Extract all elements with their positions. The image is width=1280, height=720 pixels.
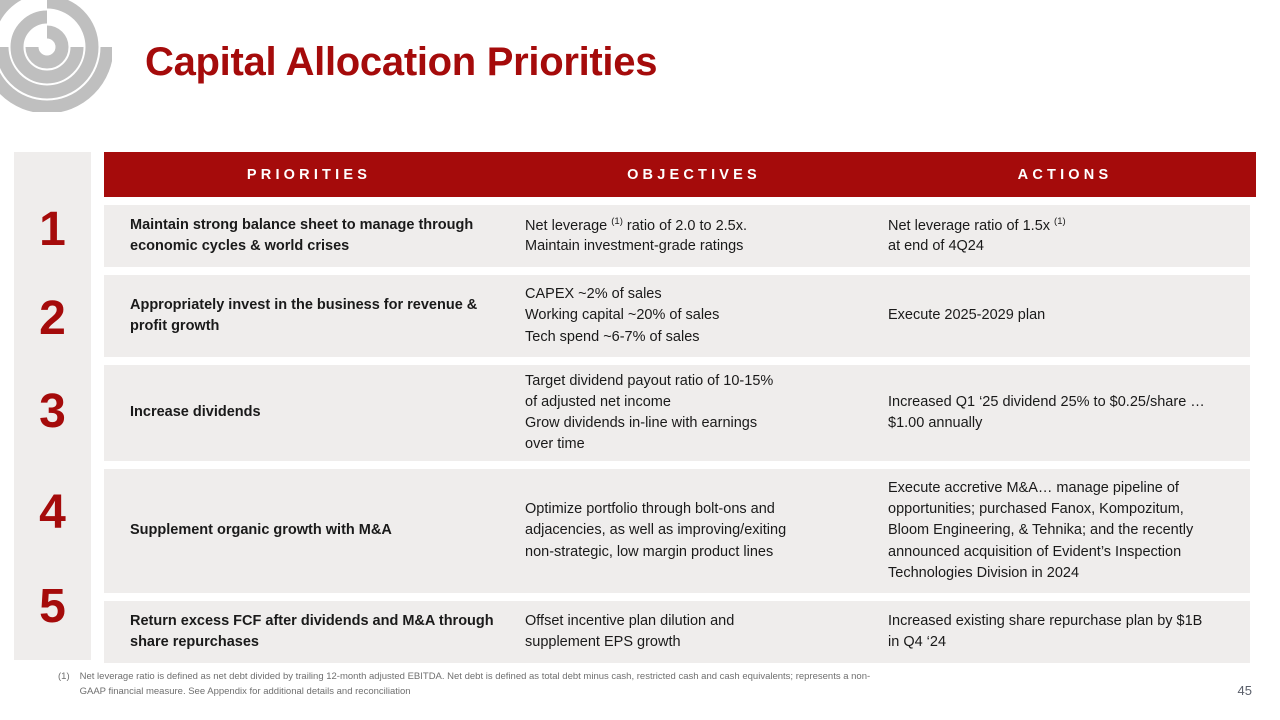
action-line: Execute 2025-2029 plan — [888, 305, 1240, 326]
action-line: Net leverage ratio of 1.5x (1) — [888, 215, 1240, 237]
footnote-marker: (1) — [58, 670, 70, 699]
column-header-actions: ACTIONS — [874, 167, 1256, 183]
priority-number-3: 3 — [14, 388, 91, 436]
priority-number-4: 4 — [14, 489, 91, 537]
footnote: (1) Net leverage ratio is defined as net… — [58, 670, 888, 699]
column-header-objectives: OBJECTIVES — [514, 167, 874, 183]
objective-line: Working capital ~20% of sales — [525, 305, 860, 326]
action-line: Bloom Engineering, & Tehnika; and the re… — [888, 520, 1240, 541]
cell-action: Increased Q1 ‘25 dividend 25% to $0.25/s… — [874, 392, 1250, 434]
objective-line: CAPEX ~2% of sales — [525, 284, 860, 305]
action-line: $1.00 annually — [888, 413, 1240, 434]
objective-line: Tech spend ~6-7% of sales — [525, 327, 860, 348]
footnote-ref: (1) — [611, 216, 623, 227]
cell-objective: Net leverage (1) ratio of 2.0 to 2.5x. M… — [514, 215, 874, 258]
cell-objective: CAPEX ~2% of sales Working capital ~20% … — [514, 284, 874, 347]
table-row: Appropriately invest in the business for… — [104, 275, 1250, 357]
objective-line: Optimize portfolio through bolt-ons and — [525, 499, 860, 520]
action-line: Increased existing share repurchase plan… — [888, 611, 1240, 632]
cell-action: Increased existing share repurchase plan… — [874, 611, 1250, 653]
cell-priority: Return excess FCF after dividends and M&… — [104, 611, 514, 653]
cell-action: Net leverage ratio of 1.5x (1) at end of… — [874, 215, 1250, 258]
priority-number-1: 1 — [14, 206, 91, 254]
objective-line: of adjusted net income — [525, 392, 860, 413]
table-row: Return excess FCF after dividends and M&… — [104, 601, 1250, 663]
capital-allocation-table: PRIORITIES OBJECTIVES ACTIONS Maintain s… — [104, 152, 1256, 663]
objective-line: non-strategic, low margin product lines — [525, 542, 860, 563]
action-line: at end of 4Q24 — [888, 236, 1240, 257]
action-line: Technologies Division in 2024 — [888, 563, 1240, 584]
action-line: opportunities; purchased Fanox, Kompozit… — [888, 499, 1240, 520]
cell-action: Execute 2025-2029 plan — [874, 305, 1250, 326]
action-line: in Q4 ‘24 — [888, 632, 1240, 653]
objective-line: Target dividend payout ratio of 10-15% — [525, 371, 860, 392]
action-line: Increased Q1 ‘25 dividend 25% to $0.25/s… — [888, 392, 1240, 413]
cell-priority: Supplement organic growth with M&A — [104, 520, 514, 541]
objective-line: Offset incentive plan dilution and — [525, 611, 860, 632]
cell-priority: Increase dividends — [104, 402, 514, 423]
footnote-ref: (1) — [1054, 216, 1066, 227]
table-row: Maintain strong balance sheet to manage … — [104, 205, 1250, 267]
priority-number-5: 5 — [14, 583, 91, 631]
cell-priority: Maintain strong balance sheet to manage … — [104, 215, 514, 257]
page-title: Capital Allocation Priorities — [145, 40, 657, 85]
action-line: Execute accretive M&A… manage pipeline o… — [888, 478, 1240, 499]
slide: Capital Allocation Priorities 1 2 3 4 5 … — [0, 0, 1280, 720]
priority-number-rail: 1 2 3 4 5 — [14, 152, 91, 660]
page-number: 45 — [1238, 683, 1252, 698]
cell-action: Execute accretive M&A… manage pipeline o… — [874, 478, 1250, 583]
cell-priority: Appropriately invest in the business for… — [104, 295, 514, 337]
objective-line: supplement EPS growth — [525, 632, 860, 653]
objective-line: adjacencies, as well as improving/exitin… — [525, 520, 860, 541]
cell-objective: Target dividend payout ratio of 10-15% o… — [514, 371, 874, 455]
cell-objective: Optimize portfolio through bolt-ons and … — [514, 499, 874, 562]
objective-line: Net leverage (1) ratio of 2.0 to 2.5x. — [525, 215, 860, 237]
spiral-concentric-logo-icon — [0, 0, 112, 112]
table-row: Increase dividends Target dividend payou… — [104, 365, 1250, 461]
column-header-priorities: PRIORITIES — [104, 167, 514, 183]
action-line: announced acquisition of Evident’s Inspe… — [888, 542, 1240, 563]
footnote-text: Net leverage ratio is defined as net deb… — [80, 670, 888, 699]
priority-number-2: 2 — [14, 295, 91, 343]
cell-objective: Offset incentive plan dilution and suppl… — [514, 611, 874, 653]
objective-line: Maintain investment-grade ratings — [525, 236, 860, 257]
objective-line: over time — [525, 434, 860, 455]
objective-line: Grow dividends in-line with earnings — [525, 413, 860, 434]
table-header-row: PRIORITIES OBJECTIVES ACTIONS — [104, 152, 1256, 197]
table-row: Supplement organic growth with M&A Optim… — [104, 469, 1250, 593]
